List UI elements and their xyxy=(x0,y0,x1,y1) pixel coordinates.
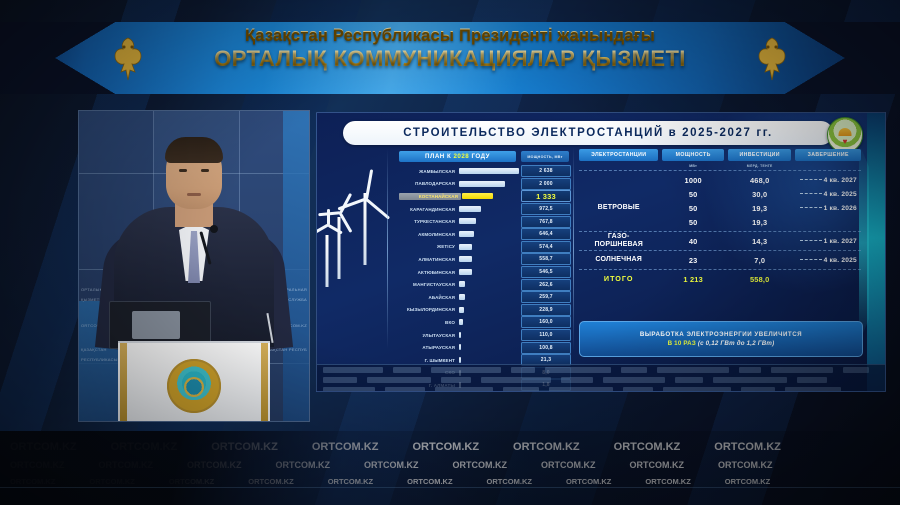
vignette xyxy=(0,0,900,505)
screen-root: Қазақстан Республикасы Президенті жанынд… xyxy=(0,0,900,505)
